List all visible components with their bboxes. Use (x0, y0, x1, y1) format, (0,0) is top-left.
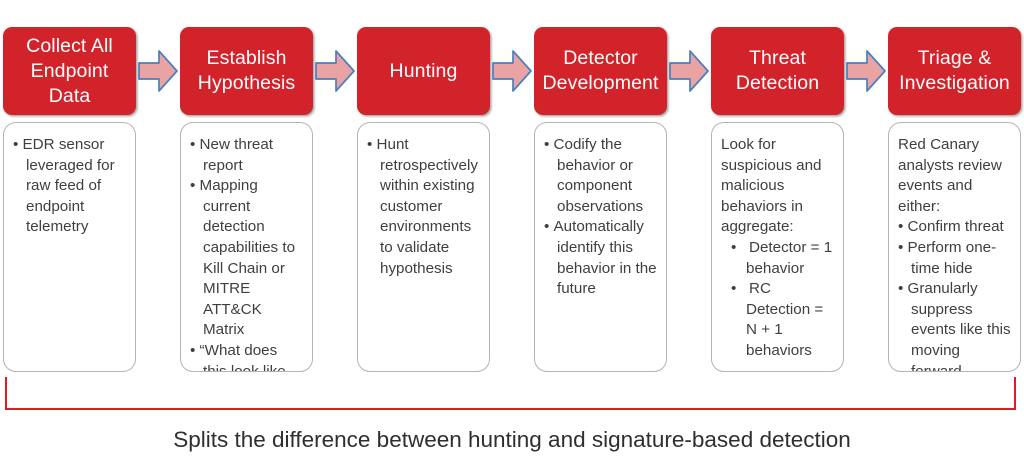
detail-item: Look for suspicious and malicious behavi… (721, 135, 834, 238)
stage-details-establish-hypothesis: New threat reportMapping current detecti… (180, 122, 313, 372)
stage-header-collect-all-endpoint-data[interactable]: Collect All Endpoint Data (3, 27, 136, 115)
stage-details-collect-all-endpoint-data: EDR sensor leveraged for raw feed of end… (3, 122, 136, 372)
detail-item: Confirm threat (898, 217, 1011, 238)
stage-details-threat-detection: Look for suspicious and malicious behavi… (711, 122, 844, 372)
detail-item: Red Canary analysts review events and ei… (898, 135, 1011, 217)
stage-column-detector-development: Detector DevelopmentCodify the behavior … (534, 27, 667, 373)
flow-arrow-3-icon (490, 27, 534, 115)
detail-item: Mapping current detection capabilities t… (190, 176, 303, 341)
stage-header-hunting[interactable]: Hunting (357, 27, 490, 115)
stage-column-establish-hypothesis: Establish HypothesisNew threat reportMap… (180, 27, 313, 373)
detail-item: Granularly suppress events like this mov… (898, 279, 1011, 372)
detail-item: Hunt retrospectively within existing cus… (367, 135, 480, 279)
stage-header-establish-hypothesis[interactable]: Establish Hypothesis (180, 27, 313, 115)
detail-item: New threat report (190, 135, 303, 176)
flow-arrow-2-icon (313, 27, 357, 115)
detail-list: EDR sensor leveraged for raw feed of end… (13, 135, 126, 238)
detail-list: New threat reportMapping current detecti… (190, 135, 303, 372)
stage-header-detector-development[interactable]: Detector Development (534, 27, 667, 115)
stage-column-collect-all-endpoint-data: Collect All Endpoint DataEDR sensor leve… (3, 27, 136, 373)
detail-item: RC Detection = N + 1 behaviors (721, 279, 834, 361)
stage-header-triage-and-investigation[interactable]: Triage & Investigation (888, 27, 1021, 115)
flow-arrow-5-icon (844, 27, 888, 115)
diagram-caption: Splits the difference between hunting an… (0, 425, 1024, 455)
stage-header-threat-detection[interactable]: Threat Detection (711, 27, 844, 115)
detail-item: EDR sensor leveraged for raw feed of end… (13, 135, 126, 238)
detail-list: Hunt retrospectively within existing cus… (367, 135, 480, 279)
stage-details-detector-development: Codify the behavior or component observa… (534, 122, 667, 372)
detail-item: Automatically identify this behavior in … (544, 217, 657, 299)
detail-item: Perform one-time hide (898, 238, 1011, 279)
detail-item: “What does this look like on the endpoin… (190, 341, 303, 372)
scope-bracket (5, 377, 1016, 410)
stage-column-threat-detection: Threat DetectionLook for suspicious and … (711, 27, 844, 373)
stage-column-hunting: HuntingHunt retrospectively within exist… (357, 27, 490, 373)
detail-item: Codify the behavior or component observa… (544, 135, 657, 217)
detail-item: Detector = 1 behavior (721, 238, 834, 279)
flow-arrow-4-icon (667, 27, 711, 115)
flow-arrow-1-icon (136, 27, 180, 115)
stage-details-hunting: Hunt retrospectively within existing cus… (357, 122, 490, 372)
detail-list: Look for suspicious and malicious behavi… (721, 135, 834, 362)
detection-engineering-process-diagram: Collect All Endpoint DataEDR sensor leve… (0, 0, 1024, 468)
stage-columns: Collect All Endpoint DataEDR sensor leve… (3, 27, 1021, 373)
stage-column-triage-and-investigation: Triage & InvestigationRed Canary analyst… (888, 27, 1021, 373)
stage-details-triage-and-investigation: Red Canary analysts review events and ei… (888, 122, 1021, 372)
detail-list: Codify the behavior or component observa… (544, 135, 657, 300)
detail-list: Red Canary analysts review events and ei… (898, 135, 1011, 372)
